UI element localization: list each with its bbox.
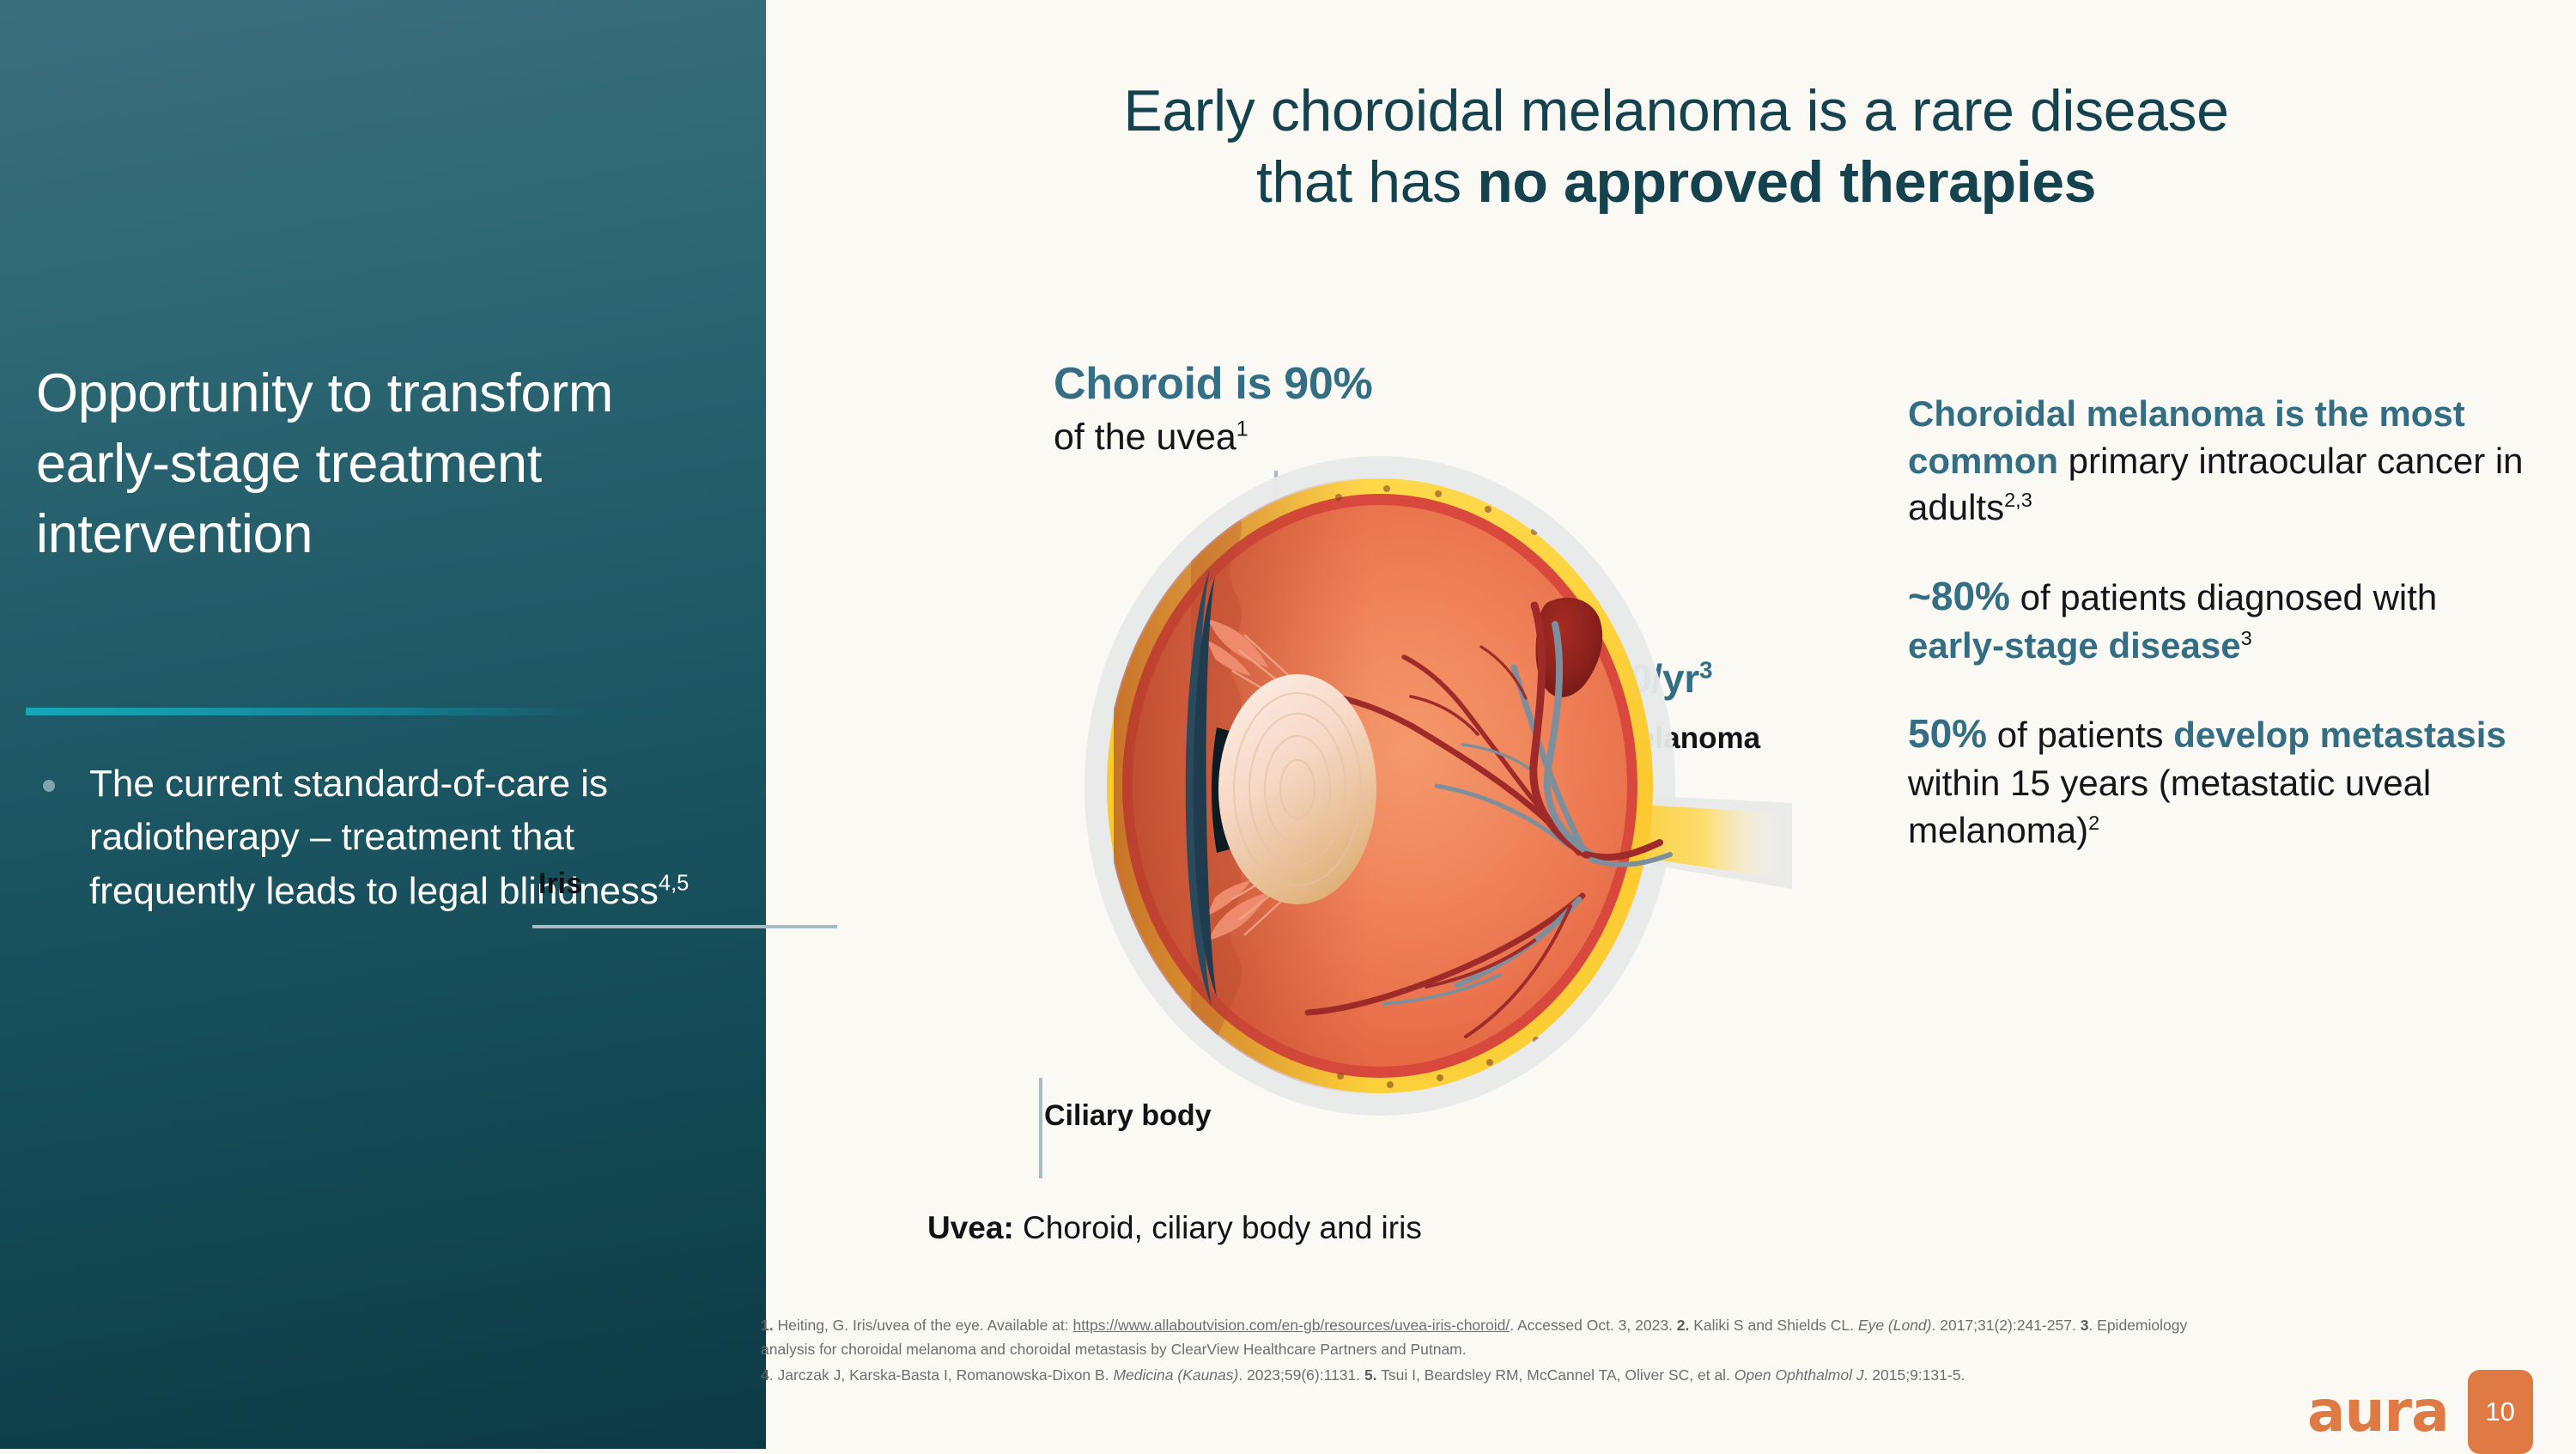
stat-block-metastasis: 50% of patients develop metastasis withi… <box>1908 709 2535 854</box>
sidebar-bullet-refs: 4,5 <box>659 871 689 895</box>
ref-5-text-a: Tsui I, Beardsley RM, McCannel TA, Olive… <box>1377 1366 1735 1384</box>
ref-4-journal: Medicina (Kaunas) <box>1113 1366 1238 1384</box>
aura-logo: aura <box>2307 1384 2449 1440</box>
lens <box>1218 674 1376 904</box>
ref-3-num: 3 <box>2081 1317 2089 1334</box>
stat2-ref: 3 <box>2241 627 2252 649</box>
ref-2-text-a: Kaliki S and Shields CL. <box>1689 1317 1858 1334</box>
references-paragraph-1: 1. Heiting, G. Iris/uvea of the eye. Ava… <box>761 1314 2203 1361</box>
uvea-caption: Uvea: Choroid, ciliary body and iris <box>927 1209 1422 1247</box>
stat2-highlight: early-stage disease <box>1908 625 2241 666</box>
uvea-caption-text: Choroid, ciliary body and iris <box>1014 1210 1422 1245</box>
sidebar-accent-divider <box>26 708 704 715</box>
page-number-badge: 10 <box>2468 1370 2533 1454</box>
stat3-ref: 2 <box>2088 812 2099 834</box>
ref-4-text-b: . 2023;59(6):1131. <box>1238 1366 1364 1384</box>
sidebar-bullet-text: The current standard-of-care is radiothe… <box>89 757 733 918</box>
stat2-mid: of patients diagnosed with <box>2010 577 2437 617</box>
page-title: Early choroidal melanoma is a rare disea… <box>835 76 2518 218</box>
ref-5-num: 5. <box>1364 1366 1377 1384</box>
ref-4-num: 4 <box>761 1366 769 1384</box>
left-sidebar-panel: Opportunity to transform early-stage tre… <box>0 0 766 1449</box>
stat3-lead-value: 50% <box>1908 711 1987 756</box>
sidebar-headline: Opportunity to transform early-stage tre… <box>36 359 732 570</box>
stat-block-early-stage: ~80% of patients diagnosed with early-st… <box>1908 571 2535 669</box>
ref-5-text-b: . 2015;9:131-5. <box>1864 1366 1965 1384</box>
page-title-line2-bold: no approved therapies <box>1477 149 2096 215</box>
bullet-dot-icon <box>43 780 55 792</box>
slide-root: Opportunity to transform early-stage tre… <box>0 0 2576 1449</box>
page-title-line2-plain: that has <box>1256 149 1477 215</box>
page-title-line1: Early choroidal melanoma is a rare disea… <box>1123 78 2228 143</box>
stat2-lead-value: ~80% <box>1908 574 2010 618</box>
ref-4-text-a: . Jarczak J, Karska-Basta I, Romanowska-… <box>769 1366 1114 1384</box>
ref-1-text-a: Heiting, G. Iris/uvea of the eye. Availa… <box>774 1317 1073 1334</box>
ref-2-num: 2. <box>1677 1317 1690 1334</box>
stat3-mid2: within 15 years (metastatic uveal melano… <box>1908 763 2431 850</box>
ref-1-url[interactable]: https://www.allaboutvision.com/en-gb/res… <box>1073 1317 1510 1334</box>
eye-anatomy-diagram <box>933 425 1801 1138</box>
ref-2-journal: Eye (Lond) <box>1858 1317 1932 1334</box>
stat1-ref: 2,3 <box>2004 489 2032 511</box>
ref-5-journal: Open Ophthalmol J <box>1735 1366 1864 1384</box>
label-iris: Iris <box>538 867 582 901</box>
footer-brand: aura 10 <box>2307 1370 2533 1454</box>
stat-block-most-common: Choroidal melanoma is the most common pr… <box>1908 391 2535 532</box>
leader-line-iris <box>532 925 837 928</box>
right-text-column: Choroidal melanoma is the most common pr… <box>1908 391 2535 854</box>
stat3-mid: of patients <box>1987 715 2173 755</box>
ref-1-num: 1. <box>761 1317 774 1334</box>
main-content-panel: Early choroidal melanoma is a rare disea… <box>766 0 2576 1449</box>
sidebar-bullet-item: The current standard-of-care is radiothe… <box>43 757 747 918</box>
ref-1-text-b: . Accessed Oct. 3, 2023. <box>1510 1317 1677 1334</box>
uvea-caption-label: Uvea: <box>927 1210 1014 1245</box>
callout-choroid-headline: Choroid is 90% <box>1054 359 1603 409</box>
references-block: 1. Heiting, G. Iris/uvea of the eye. Ava… <box>761 1314 2203 1388</box>
references-paragraph-2: 4. Jarczak J, Karska-Basta I, Romanowska… <box>761 1364 2203 1388</box>
ref-2-text-b: . 2017;31(2):241-257. <box>1932 1317 2081 1334</box>
stat3-highlight: develop metastasis <box>2173 715 2506 755</box>
